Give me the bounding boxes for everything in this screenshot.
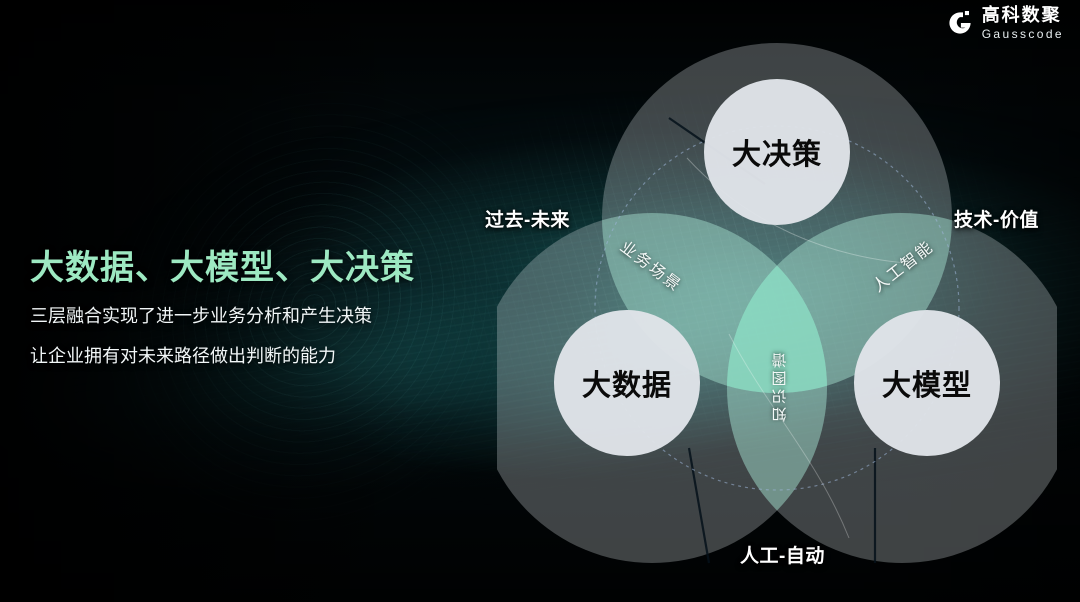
axis-label-manual-auto: 人工-自动	[740, 541, 825, 568]
core-label-bigdata: 大数据	[582, 362, 672, 404]
page-title: 大数据、大模型、大决策	[30, 248, 480, 289]
slide-canvas: 高科数聚 Gausscode 大数据、大模型、大决策 三层融合实现了进一步业务分…	[0, 0, 1080, 602]
intersection-label-knowledge-graph: 知识图谱	[770, 350, 791, 422]
copy-block: 大数据、大模型、大决策 三层融合实现了进一步业务分析和产生决策 让企业拥有对未来…	[30, 248, 480, 366]
subtitle-line-1: 三层融合实现了进一步业务分析和产生决策	[30, 307, 480, 327]
venn-diagram: 大决策 大数据 大模型 业务场景 人工智能 知识图谱 过去-未来 技术-价值 人…	[497, 18, 1057, 584]
core-label-decision: 大决策	[732, 131, 822, 173]
axis-label-tech-value: 技术-价值	[954, 205, 1039, 232]
core-label-bigmodel: 大模型	[882, 362, 972, 404]
subtitle-line-2: 让企业拥有对未来路径做出判断的能力	[30, 347, 480, 367]
axis-label-past-future: 过去-未来	[485, 205, 570, 232]
